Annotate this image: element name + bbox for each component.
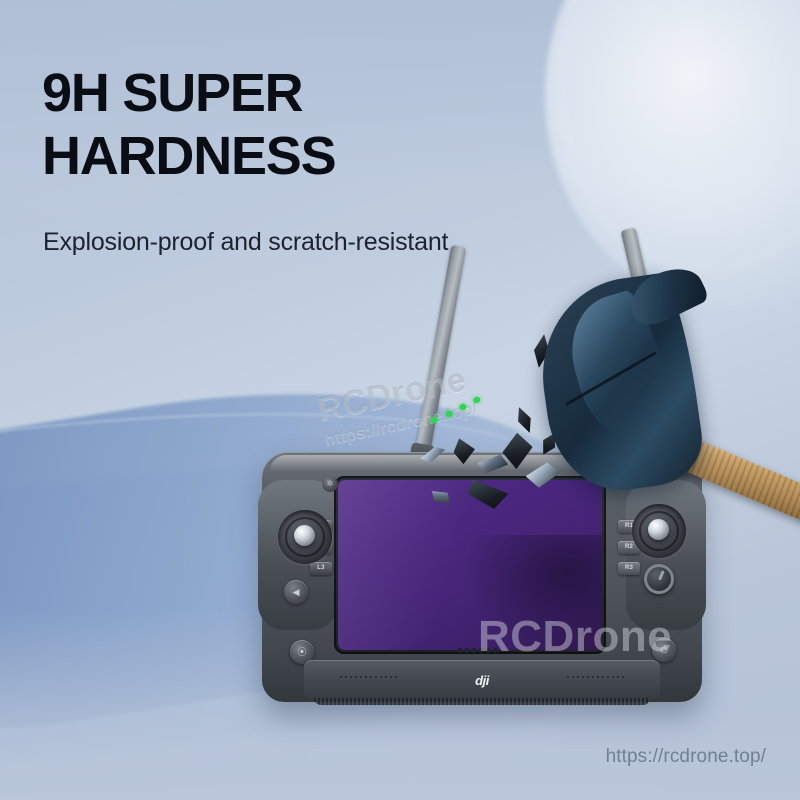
- button-l3[interactable]: L3: [310, 562, 332, 575]
- promo-banner: 9H SUPER HARDNESS Explosion-proof and sc…: [0, 0, 800, 800]
- bottom-vent: [314, 698, 650, 705]
- footer-url: https://rcdrone.top/: [606, 746, 766, 768]
- page-title: 9H SUPER HARDNESS: [42, 62, 602, 188]
- headline-line-1: 9H SUPER: [42, 63, 302, 123]
- glass-shard: [428, 485, 454, 508]
- hammer: [536, 284, 800, 584]
- top-function-button[interactable]: ✲: [322, 476, 338, 492]
- screen-connector-pins: [458, 648, 497, 653]
- speaker-grille-right: [567, 676, 624, 678]
- joystick-left-knob[interactable]: [294, 525, 315, 546]
- page-subtitle: Explosion-proof and scratch-resistant: [43, 228, 643, 257]
- joystick-left[interactable]: [278, 510, 332, 564]
- power-button[interactable]: ⏻: [652, 638, 676, 662]
- lower-bezel: dji: [304, 660, 660, 700]
- dji-logo: dji: [475, 673, 489, 688]
- back-button[interactable]: ◀: [284, 580, 308, 604]
- glass-shard: [477, 454, 509, 475]
- glass-shard: [451, 438, 476, 466]
- glass-shard: [418, 443, 447, 465]
- headline-line-2: HARDNESS: [42, 125, 602, 188]
- glass-shard: [466, 479, 509, 510]
- speaker-grille-left: [340, 676, 397, 678]
